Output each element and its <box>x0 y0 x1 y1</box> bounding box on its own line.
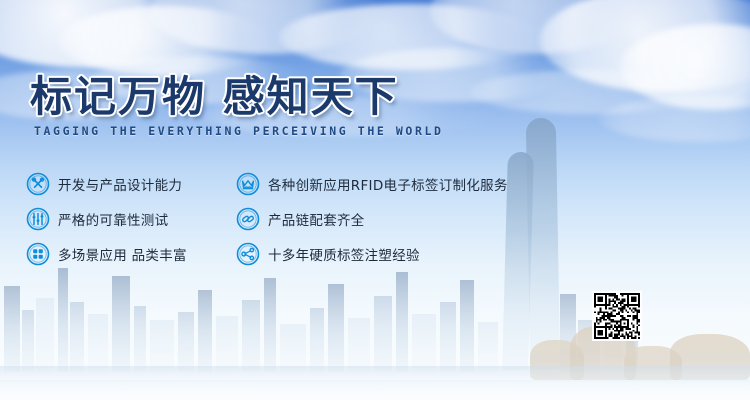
cloud-shape <box>280 4 540 70</box>
feature-item-product-chain[interactable]: 产品链配套齐全 <box>236 201 566 236</box>
building-shape <box>280 324 306 372</box>
building-shape <box>36 298 54 372</box>
building-shape <box>348 318 370 372</box>
building-shape <box>310 308 324 372</box>
cloud-shape <box>0 0 220 68</box>
building-shape <box>216 316 238 372</box>
water-strip <box>0 380 750 400</box>
feature-item-multi-scenario[interactable]: 多场景应用 品类丰富 <box>26 236 236 271</box>
sliders-icon <box>26 207 50 231</box>
feature-item-label: 多场景应用 品类丰富 <box>58 244 187 264</box>
cloud-shape <box>150 0 380 54</box>
cloud-shape <box>600 96 750 142</box>
building-shape <box>242 300 260 372</box>
qr-code-image <box>594 293 640 339</box>
building-shape <box>478 322 498 372</box>
building-shape <box>328 284 344 372</box>
feature-column-right: 各种创新应用RFID电子标签订制化服务 产品链配套齐全 <box>236 166 566 271</box>
building-shape <box>396 272 408 372</box>
building-shape <box>460 280 474 372</box>
feature-item-label: 开发与产品设计能力 <box>58 174 182 194</box>
building-shape <box>264 278 276 372</box>
cloud-shape <box>620 24 750 110</box>
building-shape <box>70 302 84 372</box>
crossed-tools-icon <box>26 172 50 196</box>
building-shape <box>22 310 34 372</box>
building-shape <box>88 314 108 372</box>
building-shape <box>412 314 436 372</box>
feature-list: 开发与产品设计能力 严格的可靠性测试 <box>26 166 566 271</box>
building-shape <box>58 268 68 372</box>
cloud-shape <box>430 0 640 54</box>
building-shape <box>112 276 130 372</box>
promo-banner: 标记万物 感知天下 TAGGING THE EVERYTHING PERCEIV… <box>0 0 750 400</box>
feature-item-label: 严格的可靠性测试 <box>58 209 168 229</box>
page-subtitle: TAGGING THE EVERYTHING PERCEIVING THE WO… <box>34 124 444 138</box>
cloud-shape <box>60 6 270 76</box>
building-shape <box>560 294 576 372</box>
building-shape <box>374 296 392 372</box>
feature-item-injection-molding-experience[interactable]: 十多年硬质标签注塑经验 <box>236 236 566 271</box>
building-shape <box>440 302 456 372</box>
feature-item-development-design[interactable]: 开发与产品设计能力 <box>26 166 236 201</box>
share-network-icon <box>236 242 260 266</box>
grid-squares-icon <box>26 242 50 266</box>
building-shape <box>134 306 146 372</box>
feature-column-left: 开发与产品设计能力 严格的可靠性测试 <box>26 166 236 271</box>
building-shape <box>198 290 212 372</box>
feature-item-reliability-testing[interactable]: 严格的可靠性测试 <box>26 201 236 236</box>
cloud-shape <box>470 70 710 114</box>
feature-item-rfid-custom-service[interactable]: 各种创新应用RFID电子标签订制化服务 <box>236 166 566 201</box>
headline-block: 标记万物 感知天下 TAGGING THE EVERYTHING PERCEIV… <box>30 76 444 138</box>
feature-item-label: 十多年硬质标签注塑经验 <box>268 244 420 264</box>
chain-link-icon <box>236 207 260 231</box>
building-shape <box>4 286 20 372</box>
cloud-shape <box>540 0 750 92</box>
feature-item-label: 各种创新应用RFID电子标签订制化服务 <box>268 174 508 194</box>
page-title: 标记万物 感知天下 <box>30 76 444 118</box>
building-shape <box>178 312 194 372</box>
building-shape <box>150 320 174 372</box>
crown-icon <box>236 172 260 196</box>
qr-code[interactable] <box>592 291 642 341</box>
feature-item-label: 产品链配套齐全 <box>268 209 365 229</box>
